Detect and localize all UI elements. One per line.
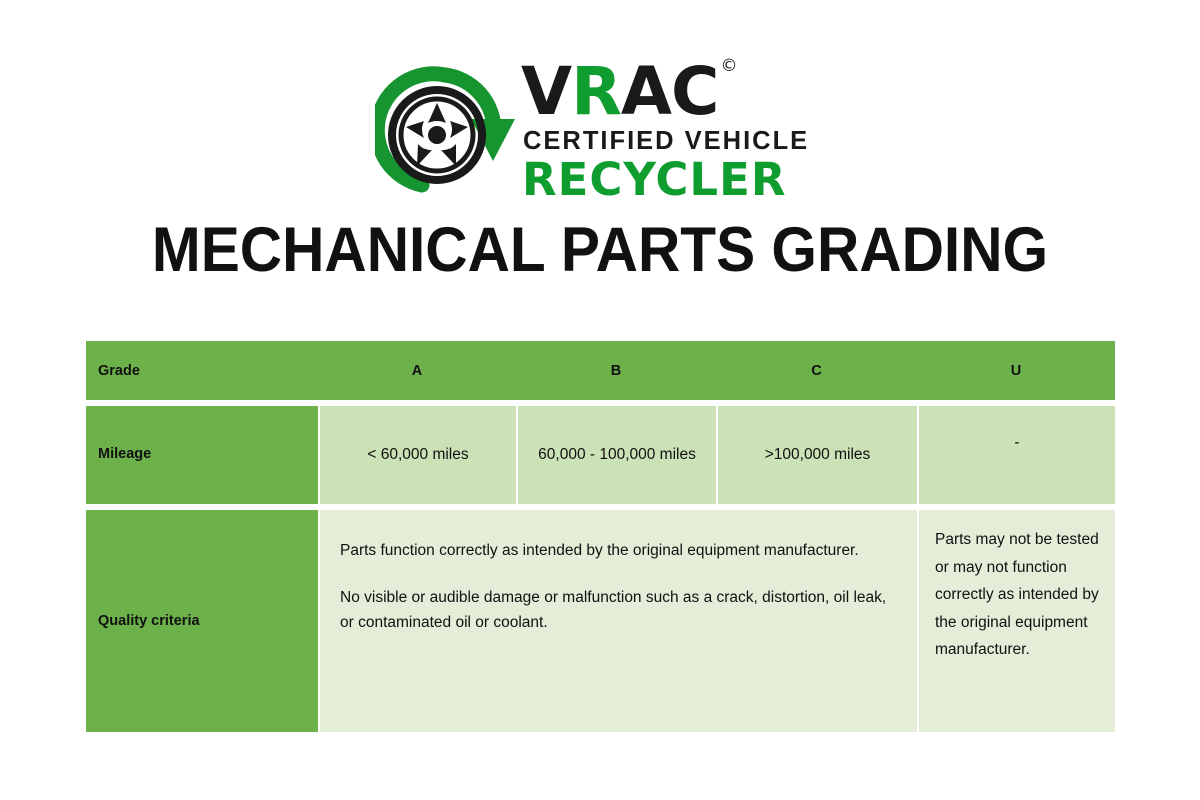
logo-vrac-text: VRAC©	[521, 59, 809, 125]
logo-wordmark: VRAC© CERTIFIED VEHICLE RECYCLER	[521, 59, 809, 203]
quality-cell-abc: Parts function correctly as intended by …	[318, 510, 917, 732]
logo-recycler-text: RECYCLER	[522, 157, 809, 202]
logo-letters-ac: AC	[621, 53, 719, 130]
table-row-quality-criteria: Quality criteria Parts function correctl…	[86, 510, 1115, 732]
row-label-quality-criteria: Quality criteria	[86, 510, 318, 732]
quality-cell-u: Parts may not be tested or may not funct…	[917, 510, 1115, 732]
header-cell-a: A	[318, 341, 516, 400]
header-cell-u: U	[917, 341, 1115, 400]
logo-subtitle: CERTIFIED VEHICLE	[523, 129, 809, 155]
recycling-wheel-logo-icon	[375, 61, 515, 201]
mileage-cell-b: 60,000 - 100,000 miles	[516, 406, 716, 504]
quality-paragraph-2: No visible or audible damage or malfunct…	[340, 585, 901, 635]
table-row-mileage: Mileage < 60,000 miles 60,000 - 100,000 …	[86, 406, 1115, 504]
header-cell-b: B	[516, 341, 716, 400]
slide-canvas: VRAC© CERTIFIED VEHICLE RECYCLER MECHANI…	[0, 0, 1200, 800]
page-title: MECHANICAL PARTS GRADING	[42, 214, 1158, 286]
quality-u-paragraph-1: Parts may not be tested or may not funct…	[935, 526, 1103, 664]
mileage-cell-c: >100,000 miles	[716, 406, 917, 504]
table-header-row: Grade A B C U	[86, 341, 1115, 400]
header-cell-c: C	[716, 341, 917, 400]
row-label-mileage: Mileage	[86, 406, 318, 504]
mileage-cell-u: -	[917, 406, 1115, 504]
copyright-icon: ©	[720, 56, 736, 76]
header-cell-grade: Grade	[86, 341, 318, 400]
vrac-logo: VRAC© CERTIFIED VEHICLE RECYCLER	[375, 58, 835, 203]
logo-letter-r: R	[571, 53, 621, 130]
quality-paragraph-1: Parts function correctly as intended by …	[340, 538, 901, 563]
mileage-cell-a: < 60,000 miles	[318, 406, 516, 504]
mechanical-parts-grading-table: Grade A B C U Mileage < 60,000 miles 60,…	[86, 341, 1115, 732]
logo-letter-v: V	[521, 53, 571, 130]
